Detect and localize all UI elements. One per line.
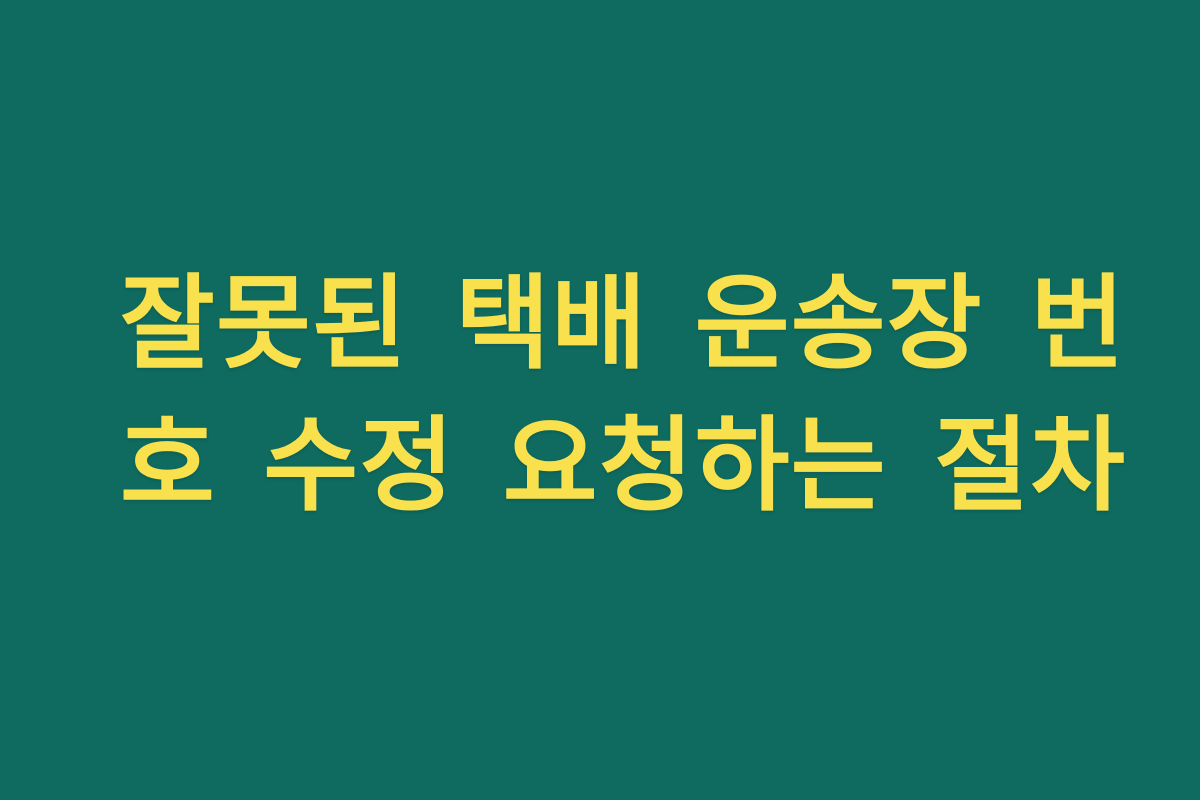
headline-line-1: 잘못된 택배 운송장 번 bbox=[120, 253, 1080, 395]
headline-block: 잘못된 택배 운송장 번 호 수정 요청하는 절차 bbox=[120, 253, 1080, 537]
headline-line-2: 호 수정 요청하는 절차 bbox=[120, 395, 1080, 537]
banner-background: 잘못된 택배 운송장 번 호 수정 요청하는 절차 bbox=[0, 0, 1200, 800]
